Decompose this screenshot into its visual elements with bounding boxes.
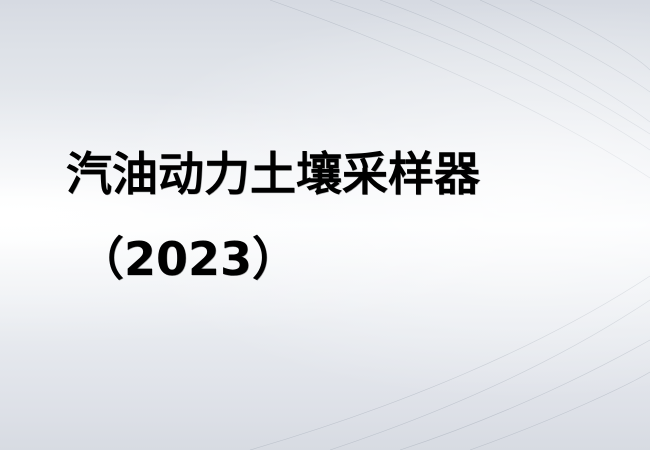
background-right-wash [0,0,650,450]
title-banner: 汽油动力土壤采样器 （2023） [0,0,650,450]
